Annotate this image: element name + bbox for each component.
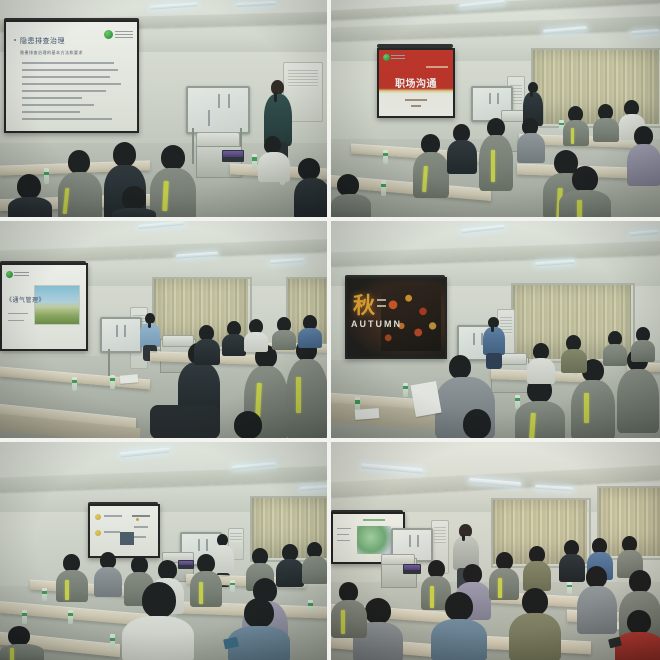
slide-title: 职场沟通 <box>395 75 437 90</box>
attendee-torso <box>294 178 327 217</box>
classroom-scene: 职场沟通 <box>331 0 660 217</box>
attendee <box>302 542 327 582</box>
attendee-torso <box>150 168 196 217</box>
attendee <box>479 118 513 190</box>
classroom-scene: 秋 AUTUMN <box>331 221 660 438</box>
water-bottle <box>72 377 77 391</box>
attendee-torso <box>0 644 44 660</box>
attendee <box>56 554 88 602</box>
attendee-head <box>522 588 548 615</box>
reflective-stripe <box>491 150 495 182</box>
water-bottle <box>230 580 235 592</box>
water-bottle <box>110 375 115 389</box>
company-logo-icon <box>383 54 390 61</box>
water-bottle <box>252 154 257 169</box>
whiteboard-marking <box>489 93 491 104</box>
attendee-torso <box>561 349 587 373</box>
attendee-torso <box>593 118 619 142</box>
attendee-head <box>234 411 262 438</box>
company-logo-wordmark <box>391 55 405 60</box>
attendee-torso <box>615 632 660 660</box>
attendee-head <box>298 158 320 180</box>
whiteboard-marking <box>206 539 208 551</box>
attendee <box>0 626 44 660</box>
slide-text-line <box>104 515 122 517</box>
whiteboard <box>100 317 142 353</box>
slide-subtitle: 隐患排查治理的基本方法和要求 <box>20 50 83 56</box>
attendee <box>244 319 268 351</box>
projection-screen: 职场沟通 <box>377 48 455 118</box>
water-bottle <box>381 180 386 196</box>
slide-subtitle-line <box>405 99 427 101</box>
attendee <box>449 409 505 438</box>
slide-bullet-line <box>22 90 106 92</box>
slide-byline-line <box>8 320 24 321</box>
slide-title-cn: 秋 <box>353 295 375 317</box>
attendee-head <box>244 598 274 628</box>
bullet-circle-icon <box>95 514 101 520</box>
attendee <box>258 136 290 180</box>
attendee-foreground <box>431 592 487 660</box>
slide-text-line <box>337 540 350 541</box>
classroom-scene <box>0 442 327 660</box>
slide-text-line <box>132 515 150 517</box>
attendee <box>523 546 551 590</box>
slide-accent-dot <box>136 518 139 521</box>
attendee-torso <box>94 567 122 597</box>
projection-screen: 秋 AUTUMN <box>345 277 447 359</box>
attendee-torso <box>222 334 246 356</box>
whiteboard-marking <box>124 325 126 337</box>
whiteboard-marking <box>409 535 411 547</box>
attendee-torso <box>331 194 371 217</box>
classroom-scene: 隐患排查治理 隐患排查治理的基本方法和要求 <box>0 0 327 217</box>
attendee-torso <box>527 358 555 384</box>
attendee <box>94 552 122 596</box>
presenter-head <box>271 80 284 95</box>
handout-paper <box>120 374 139 384</box>
slide-byline <box>411 105 421 107</box>
collage-panel-top-left: 隐患排查治理 隐患排查治理的基本方法和要求 <box>0 0 327 217</box>
attendee <box>112 186 156 217</box>
reflective-stripe <box>65 580 69 600</box>
slide-bullet-line <box>22 69 118 71</box>
reflective-stripe <box>199 582 203 604</box>
attendee-head <box>586 566 607 588</box>
attendee-torso <box>302 556 327 584</box>
attendee-head <box>634 126 653 146</box>
attendee-torso <box>447 140 477 174</box>
attendee-torso <box>8 197 52 217</box>
reflective-stripe <box>296 377 301 413</box>
slide-bullet-line <box>22 83 121 85</box>
reflective-stripe <box>577 200 582 217</box>
microphone <box>491 326 494 332</box>
whiteboard-marking <box>208 110 210 126</box>
whiteboard-marking <box>198 539 200 551</box>
whiteboard-marking <box>116 325 118 337</box>
attendee <box>218 411 278 438</box>
attendee-head <box>68 150 90 174</box>
attendee <box>413 134 449 198</box>
attendee-foreground <box>509 588 561 660</box>
handout-paper <box>355 408 380 420</box>
attendee-torso <box>56 570 88 602</box>
company-logo-icon <box>104 30 113 39</box>
attendee-torso <box>122 616 194 660</box>
autumn-foliage-image <box>381 285 441 351</box>
presenter-torso <box>483 327 505 355</box>
slide-bullet-line <box>22 118 112 120</box>
slide-corner-note <box>426 66 448 68</box>
attendee-torso <box>272 330 296 350</box>
slide-content: 《通气管理》 <box>2 265 86 349</box>
attendee-head <box>337 174 359 196</box>
attendee-head <box>463 564 482 584</box>
laptop <box>222 150 244 162</box>
microphone <box>530 90 533 97</box>
attendee <box>631 327 655 361</box>
attendee-torso <box>577 586 617 634</box>
attendee <box>298 315 322 347</box>
slide-bullet-line <box>22 62 114 64</box>
slide-photo <box>34 285 80 325</box>
attendee-head <box>158 560 177 580</box>
reflective-stripe <box>10 648 14 660</box>
attendee-torso <box>190 571 222 607</box>
attendee <box>222 321 246 355</box>
attendee-head <box>627 610 651 634</box>
attendee-head <box>113 142 136 167</box>
photo-collage: 隐患排查治理 隐患排查治理的基本方法和要求 <box>0 0 660 660</box>
handout-paper <box>410 381 441 417</box>
laptop <box>403 564 421 574</box>
slide-text-line <box>134 526 148 528</box>
attendee-torso <box>523 561 551 591</box>
attendee-torso <box>331 600 367 638</box>
attendee-head <box>572 166 598 192</box>
attendee <box>58 150 102 217</box>
collage-panel-bottom-left <box>0 442 327 660</box>
slide-diagram <box>357 526 391 554</box>
attendee-foreground <box>122 582 194 660</box>
water-bottle <box>403 383 408 397</box>
water-bottle <box>22 610 27 624</box>
attendee-head <box>17 174 41 199</box>
microphone <box>274 92 277 102</box>
attendee <box>331 582 367 636</box>
attendee-head <box>8 626 30 646</box>
attendee-torso <box>563 120 589 146</box>
attendee-torso <box>258 152 290 182</box>
slide-text-line <box>104 531 120 533</box>
reflective-stripe <box>584 393 589 423</box>
water-bottle <box>383 150 388 164</box>
whiteboard-marking <box>497 93 499 104</box>
attendee-head <box>122 186 146 210</box>
collage-panel-mid-right: 秋 AUTUMN <box>331 221 660 438</box>
slide-bullet-line <box>22 104 94 106</box>
attendee-torso <box>517 133 545 163</box>
slide-content: 职场沟通 <box>379 50 453 116</box>
reflective-stripe <box>498 578 502 598</box>
attendee-legs <box>150 405 220 438</box>
attendee <box>563 106 589 144</box>
slide-text-line <box>337 528 351 529</box>
slide-bullet-line <box>22 111 80 113</box>
attendee-torso <box>559 190 611 217</box>
water-bottle <box>567 582 572 594</box>
classroom-scene: 《通气管理》 <box>0 221 327 438</box>
whiteboard-marking <box>473 333 475 345</box>
attendee-torso <box>631 340 655 362</box>
collage-panel-top-right: 职场沟通 <box>331 0 660 217</box>
attendee-torso <box>627 144 660 186</box>
slide-text-line <box>134 536 146 538</box>
attendee-head <box>463 409 491 438</box>
attendee <box>294 158 327 217</box>
reflective-stripe <box>341 610 345 634</box>
water-bottle <box>42 588 47 601</box>
attendee-torso <box>194 339 220 365</box>
projection-screen: 隐患排查治理 隐患排查治理的基本方法和要求 <box>4 20 139 133</box>
attendee-head <box>365 598 391 624</box>
attendee-head <box>142 582 176 618</box>
attendee-head <box>421 134 440 154</box>
slide-diagram-icon <box>120 532 134 545</box>
attendee-torso <box>515 401 565 438</box>
water-bottle <box>110 634 115 650</box>
attendee <box>577 566 617 634</box>
slide-content: 隐患排查治理 隐患排查治理的基本方法和要求 <box>6 22 137 131</box>
attendee-torso <box>413 152 449 198</box>
attendee-head <box>449 355 471 379</box>
slide-side-text <box>377 299 386 301</box>
slide-title: 隐患排查治理 <box>20 36 65 46</box>
attendee-head <box>161 145 185 170</box>
attendee-torso <box>479 135 513 191</box>
slide-bullet-line <box>22 76 110 78</box>
attendee <box>515 377 565 438</box>
slide-header-bar <box>363 519 385 521</box>
whiteboard <box>186 86 250 134</box>
microphone <box>148 322 151 328</box>
company-logo-wordmark <box>14 272 29 277</box>
attendee <box>447 124 477 174</box>
attendee <box>517 118 545 162</box>
water-bottle <box>68 610 73 624</box>
projection-screen: 《通气管理》 <box>0 263 88 351</box>
attendee <box>194 325 220 363</box>
attendee-torso <box>286 359 327 438</box>
attendee-torso <box>244 332 268 352</box>
attendee <box>8 174 52 217</box>
attendee-torso <box>571 380 615 438</box>
slide-content <box>90 506 158 556</box>
attendee <box>561 335 587 373</box>
slide-text-line <box>337 534 349 535</box>
collage-panel-mid-left: 《通气管理》 <box>0 221 327 438</box>
bullet-circle-icon <box>95 530 101 536</box>
attendee-torso <box>603 344 627 366</box>
whiteboard-marking <box>218 94 220 108</box>
attendee <box>527 343 555 383</box>
slide-title: 《通气管理》 <box>6 295 45 304</box>
title-bullet-icon <box>14 39 16 41</box>
slide-subtitle-line <box>8 313 28 314</box>
slide-side-text <box>377 305 386 307</box>
attendee-torso <box>298 328 322 348</box>
attendee-torso <box>431 619 487 660</box>
attendee-foreground <box>228 598 290 660</box>
attendee-torso <box>112 208 156 217</box>
reflective-stripe <box>571 128 574 144</box>
classroom-scene <box>331 442 660 660</box>
attendee <box>603 331 627 365</box>
slide-bullet-line <box>22 97 82 99</box>
attendee-head <box>629 570 651 593</box>
attendee <box>559 166 611 217</box>
microphone <box>462 535 465 541</box>
projection-screen <box>88 504 160 558</box>
attendee <box>272 317 296 349</box>
slide-content: 秋 AUTUMN <box>347 279 445 357</box>
collage-panel-bottom-right <box>331 442 660 660</box>
attendee <box>331 174 371 217</box>
company-logo-icon <box>6 271 13 278</box>
attendee-torso <box>509 613 561 660</box>
attendee-foreground <box>615 610 660 660</box>
whiteboard-marking <box>228 94 230 108</box>
attendee <box>627 126 660 184</box>
company-logo-wordmark <box>115 31 133 38</box>
attendee-head <box>445 592 473 621</box>
water-bottle <box>308 600 313 613</box>
attendee <box>286 339 327 438</box>
whiteboard-marking <box>417 535 419 547</box>
attendee-head <box>339 582 358 602</box>
attendee <box>593 104 619 140</box>
attendee <box>190 554 222 606</box>
attendee <box>150 145 196 217</box>
attendee-torso <box>617 369 659 433</box>
slide-title-en: AUTUMN <box>351 319 402 329</box>
